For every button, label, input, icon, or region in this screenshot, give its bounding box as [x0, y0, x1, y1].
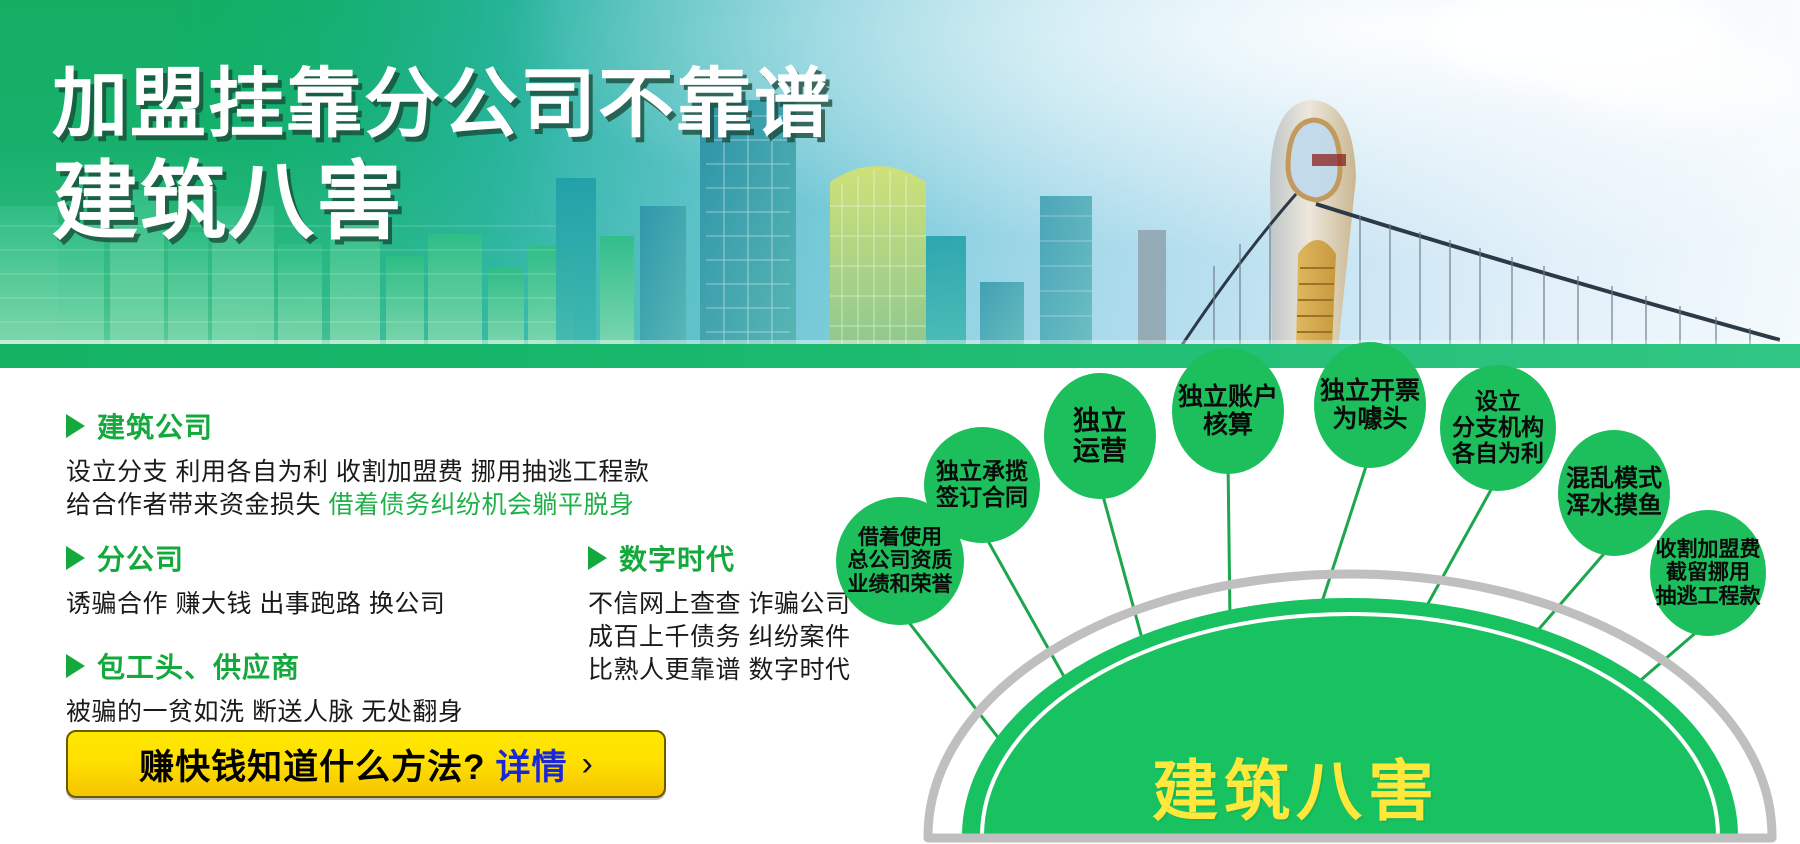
bubble-line: 截留挪用 [1666, 561, 1750, 585]
line-text: 诱骗合作 赚大钱 出事跑路 换公司 [66, 590, 445, 618]
connector-line [900, 611, 1010, 753]
headline-line-1: 加盟挂靠分公司不靠谱 [52, 62, 832, 148]
section-line: 被骗的一贫如洗 断送人脉 无处翻身 [66, 696, 463, 729]
bubble-line: 核算 [1203, 411, 1253, 439]
section-contractor-supplier: 包工头、供应商 被骗的一贫如洗 断送人脉 无处翻身 [66, 646, 463, 729]
line-text: 被骗的一贫如洗 断送人脉 无处翻身 [66, 698, 463, 726]
section-line: 诱骗合作 赚大钱 出事跑路 换公司 [66, 588, 445, 621]
section-title: 建筑公司 [97, 406, 213, 446]
section-header: 数字时代 [588, 538, 850, 578]
bubble-line: 收割加盟费 [1656, 538, 1761, 562]
connector-line [1228, 460, 1230, 620]
bubble-line: 抽逃工程款 [1656, 585, 1761, 609]
poster-root: 加盟挂靠分公司不靠谱 建筑八害 建筑公司 设立分支 利用各自为利 收割加盟费 挪… [0, 0, 1800, 844]
bubble-line: 业绩和荣誉 [848, 573, 953, 597]
section-line: 成百上千债务 纠纷案件 [588, 621, 850, 654]
dome-label: 建筑八害 [1152, 738, 1440, 834]
bubble-line: 各自为利 [1452, 441, 1544, 467]
banner-headline: 加盟挂靠分公司不靠谱 建筑八害 [52, 62, 832, 250]
bubble-line: 独立开票 [1320, 377, 1420, 405]
left-content: 建筑公司 设立分支 利用各自为利 收割加盟费 挪用抽逃工程款 给合作者带来资金损… [0, 368, 900, 844]
bubble-line: 独立 [1073, 406, 1127, 436]
line-text: 比熟人更靠谱 数字时代 [588, 656, 850, 684]
section-title: 分公司 [97, 538, 184, 578]
hero-banner: 加盟挂靠分公司不靠谱 建筑八害 [0, 0, 1800, 368]
line-text: 给合作者带来资金损失 [66, 491, 328, 519]
section-line: 不信网上查查 诈骗公司 [588, 588, 850, 621]
section-line: 设立分支 利用各自为利 收割加盟费 挪用抽逃工程款 [66, 456, 649, 489]
bubble-line: 浑水摸鱼 [1566, 493, 1662, 520]
connector-line [1100, 485, 1146, 653]
connector-line [1420, 477, 1498, 618]
bubble-line: 运营 [1073, 436, 1127, 466]
line-text: 成百上千债务 纠纷案件 [588, 623, 850, 651]
bubble-line: 总公司资质 [848, 549, 953, 573]
section-branch-company: 分公司 诱骗合作 赚大钱 出事跑路 换公司 [66, 538, 445, 621]
diagram-bubble[interactable]: 混乱模式浑水摸鱼 [1558, 430, 1670, 556]
section-construction-company: 建筑公司 设立分支 利用各自为利 收割加盟费 挪用抽逃工程款 给合作者带来资金损… [66, 406, 649, 522]
diagram-bubble[interactable]: 独立账户核算 [1172, 348, 1284, 474]
bubble-line: 签订合同 [936, 485, 1028, 511]
section-line: 给合作者带来资金损失 借着债务纠纷机会躺平脱身 [66, 489, 649, 522]
bubble-line: 设立 [1475, 389, 1521, 415]
bubble-line: 独立账户 [1178, 383, 1278, 411]
triangle-bullet-icon [588, 546, 607, 570]
bubble-line: 混乱模式 [1566, 466, 1662, 493]
radial-diagram: 借着使用总公司资质业绩和荣誉独立承揽签订合同独立运营独立账户核算独立开票为噱头设… [900, 368, 1800, 844]
section-title: 包工头、供应商 [97, 646, 300, 686]
bubble-line: 分支机构 [1452, 415, 1544, 441]
section-digital-era: 数字时代 不信网上查查 诈骗公司 成百上千债务 纠纷案件 比熟人更靠谱 数字时代 [588, 538, 850, 687]
triangle-bullet-icon [66, 414, 85, 438]
diagram-bubble[interactable]: 独立运营 [1044, 373, 1156, 499]
triangle-bullet-icon [66, 546, 85, 570]
section-header: 分公司 [66, 538, 445, 578]
diagram-bubble[interactable]: 独立承揽签订合同 [924, 427, 1040, 543]
connector-line [982, 530, 1076, 698]
bubble-line: 借着使用 [858, 526, 942, 550]
cta-button[interactable]: 赚快钱知道什么方法? 详情 › [66, 730, 666, 798]
bubble-line: 独立承揽 [936, 459, 1028, 485]
section-header: 包工头、供应商 [66, 646, 463, 686]
line-text: 不信网上查查 诈骗公司 [588, 590, 850, 618]
diagram-bubble[interactable]: 收割加盟费截留挪用抽逃工程款 [1650, 510, 1766, 636]
headline-line-2: 建筑八害 [52, 154, 832, 250]
chevron-right-icon: › [582, 745, 593, 784]
cta-link-label[interactable]: 详情 [496, 739, 568, 790]
suspension-bridge-pylon [1120, 18, 1780, 348]
bubble-line: 为噱头 [1332, 405, 1407, 433]
section-header: 建筑公司 [66, 406, 649, 446]
section-line: 比熟人更靠谱 数字时代 [588, 654, 850, 687]
diagram-bubble[interactable]: 独立开票为噱头 [1314, 342, 1426, 468]
connector-line [1320, 454, 1370, 608]
banner-base-bar [0, 344, 1800, 368]
section-title: 数字时代 [619, 538, 735, 578]
cta-main-label: 赚快钱知道什么方法? [139, 739, 485, 790]
triangle-bullet-icon [66, 654, 85, 678]
line-text: 设立分支 利用各自为利 收割加盟费 挪用抽逃工程款 [66, 458, 649, 486]
line-text-highlight: 借着债务纠纷机会躺平脱身 [328, 491, 634, 519]
diagram-bubble[interactable]: 设立分支机构各自为利 [1440, 365, 1556, 491]
